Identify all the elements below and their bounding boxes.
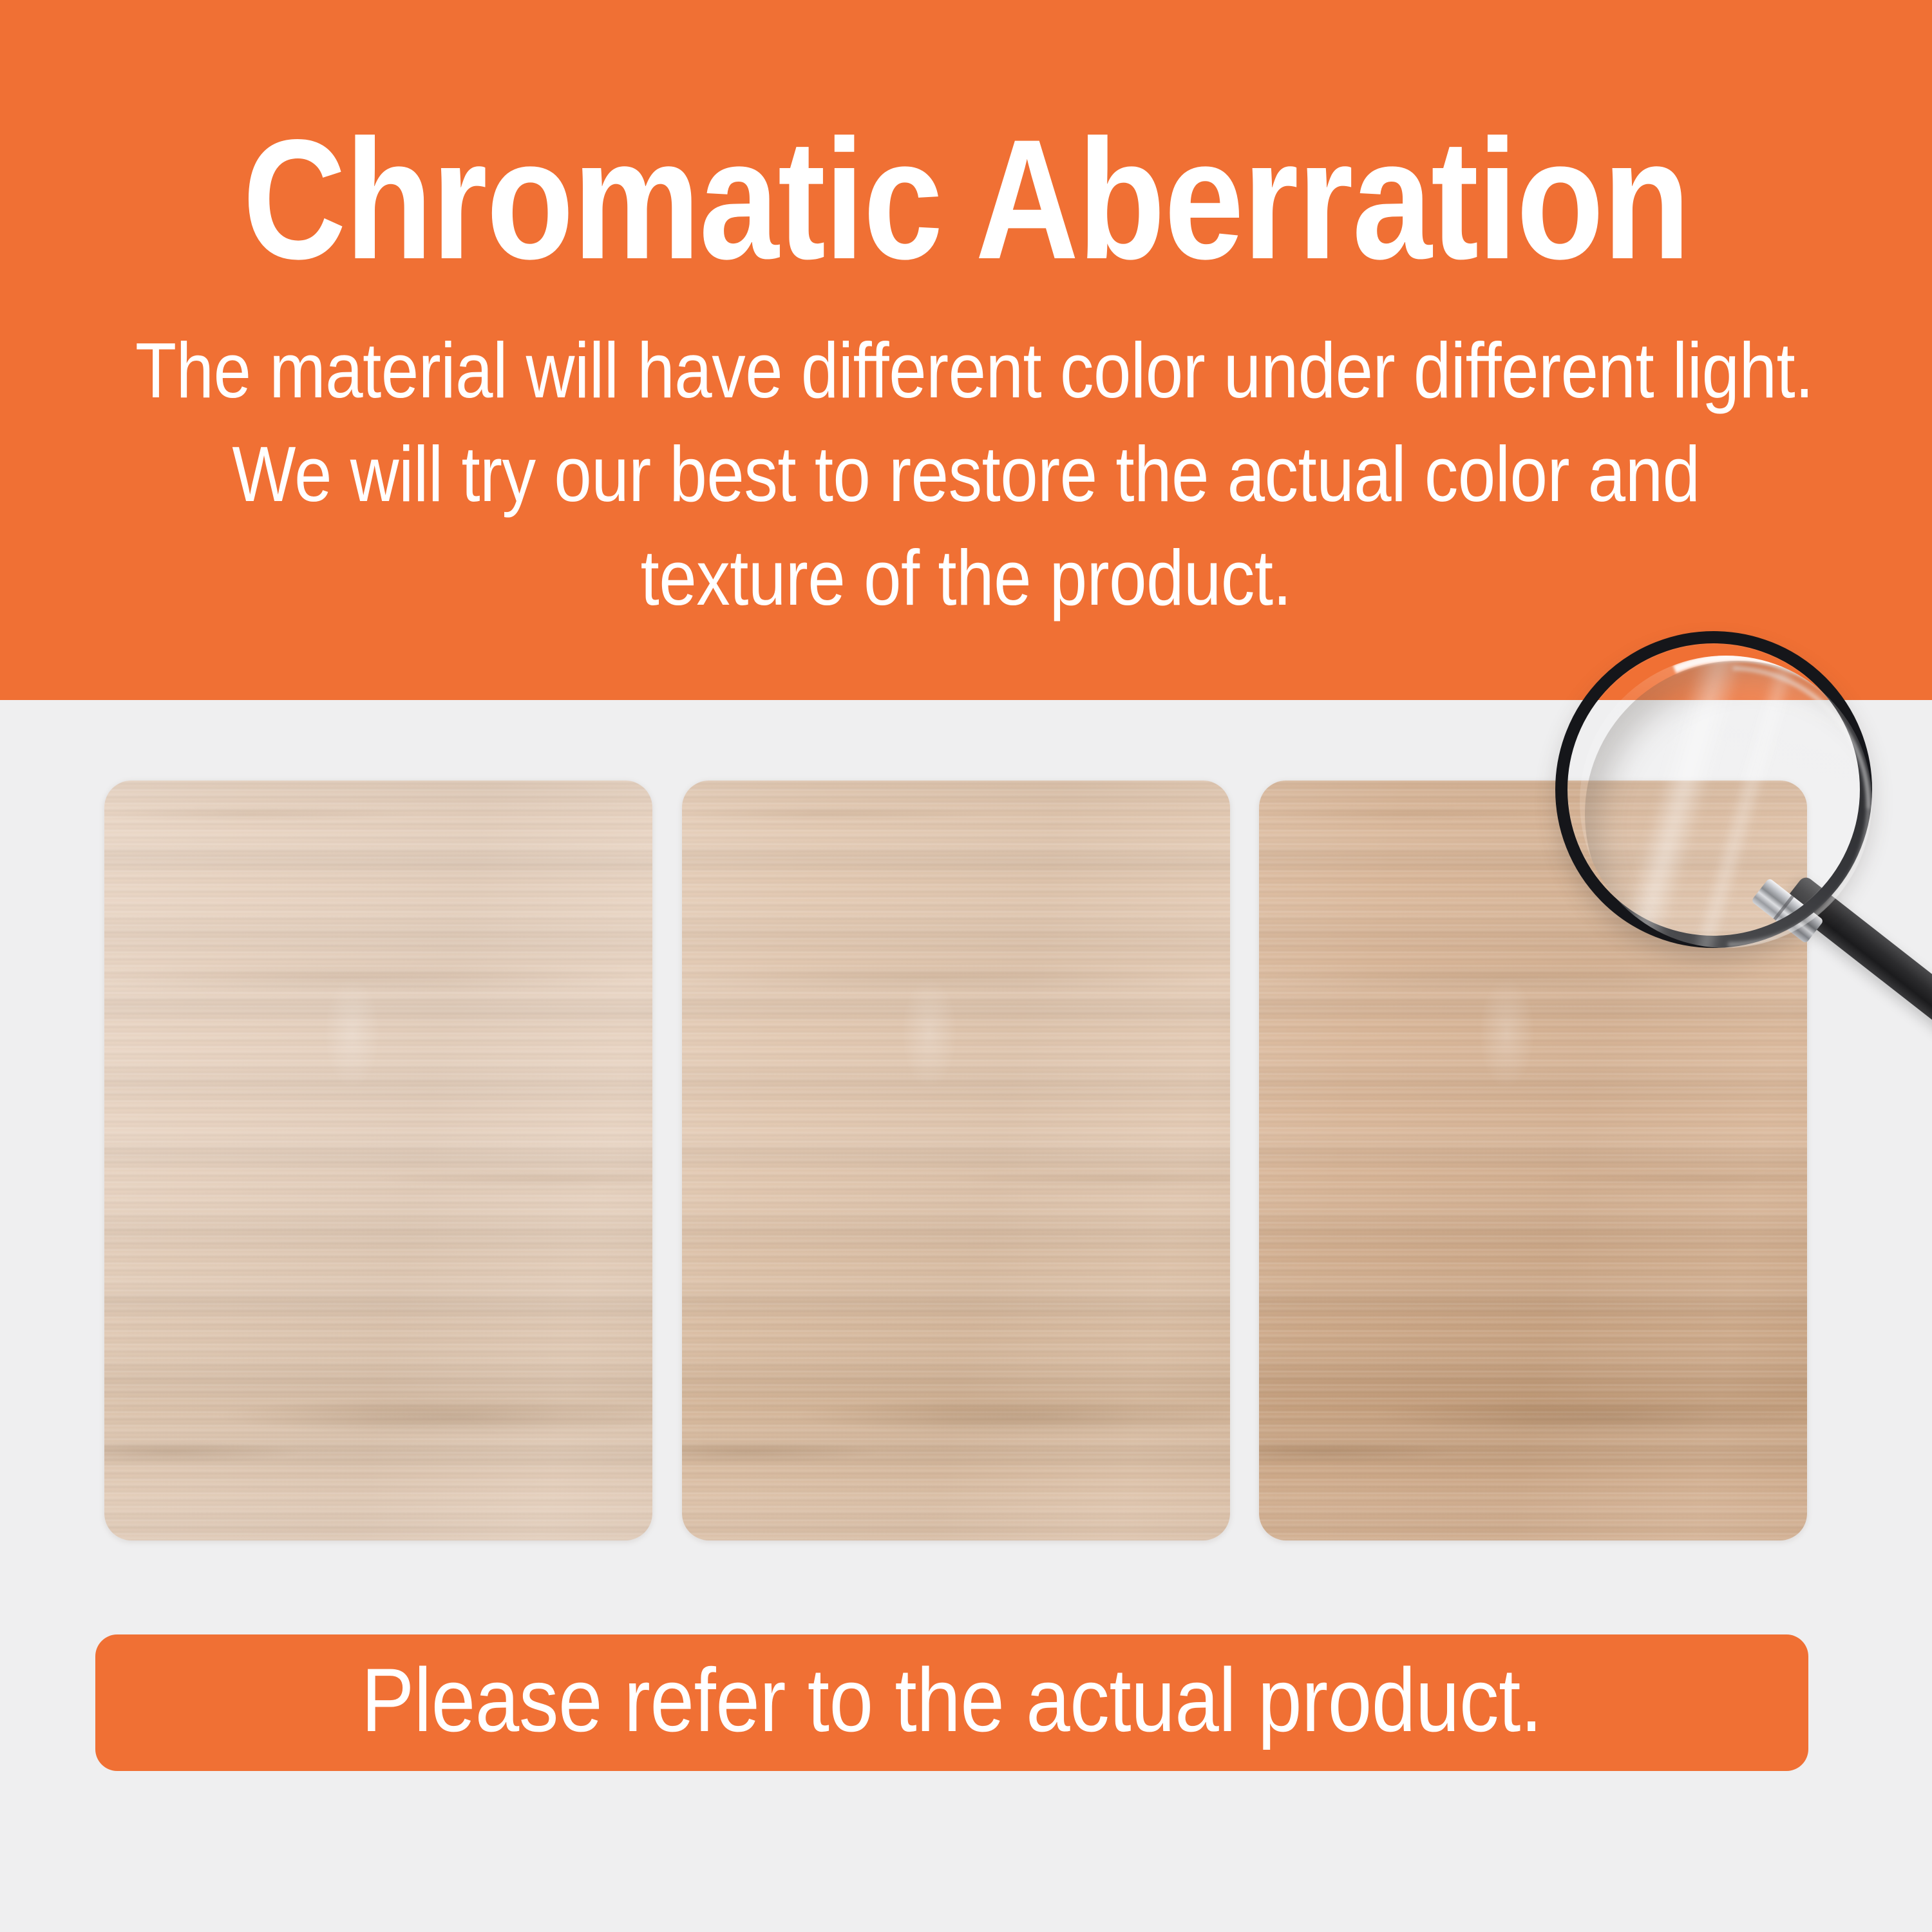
subtitle-line-3: texture of the product. xyxy=(135,526,1797,630)
chromatic-aberration-infographic: Chromatic Aberration The material will h… xyxy=(0,0,1932,1932)
subtitle-line-2: We will try our best to restore the actu… xyxy=(135,422,1797,526)
refer-to-actual-product-button[interactable]: Please refer to the actual product. xyxy=(95,1634,1808,1771)
refer-to-actual-product-label: Please refer to the actual product. xyxy=(361,1655,1542,1745)
material-swatch-row xyxy=(104,781,1807,1540)
header-text-block: Chromatic Aberration The material will h… xyxy=(0,0,1932,630)
page-title: Chromatic Aberration xyxy=(155,0,1777,285)
wood-surface-gloss xyxy=(682,781,1230,1540)
material-swatch-warm[interactable] xyxy=(1259,781,1807,1540)
wood-surface-gloss xyxy=(1259,781,1807,1540)
subtitle-line-1: The material will have different color u… xyxy=(135,319,1797,422)
material-swatch-medium[interactable] xyxy=(682,781,1230,1540)
page-subtitle: The material will have different color u… xyxy=(135,285,1797,630)
material-swatch-light[interactable] xyxy=(104,781,652,1540)
wood-surface-gloss xyxy=(104,781,652,1540)
